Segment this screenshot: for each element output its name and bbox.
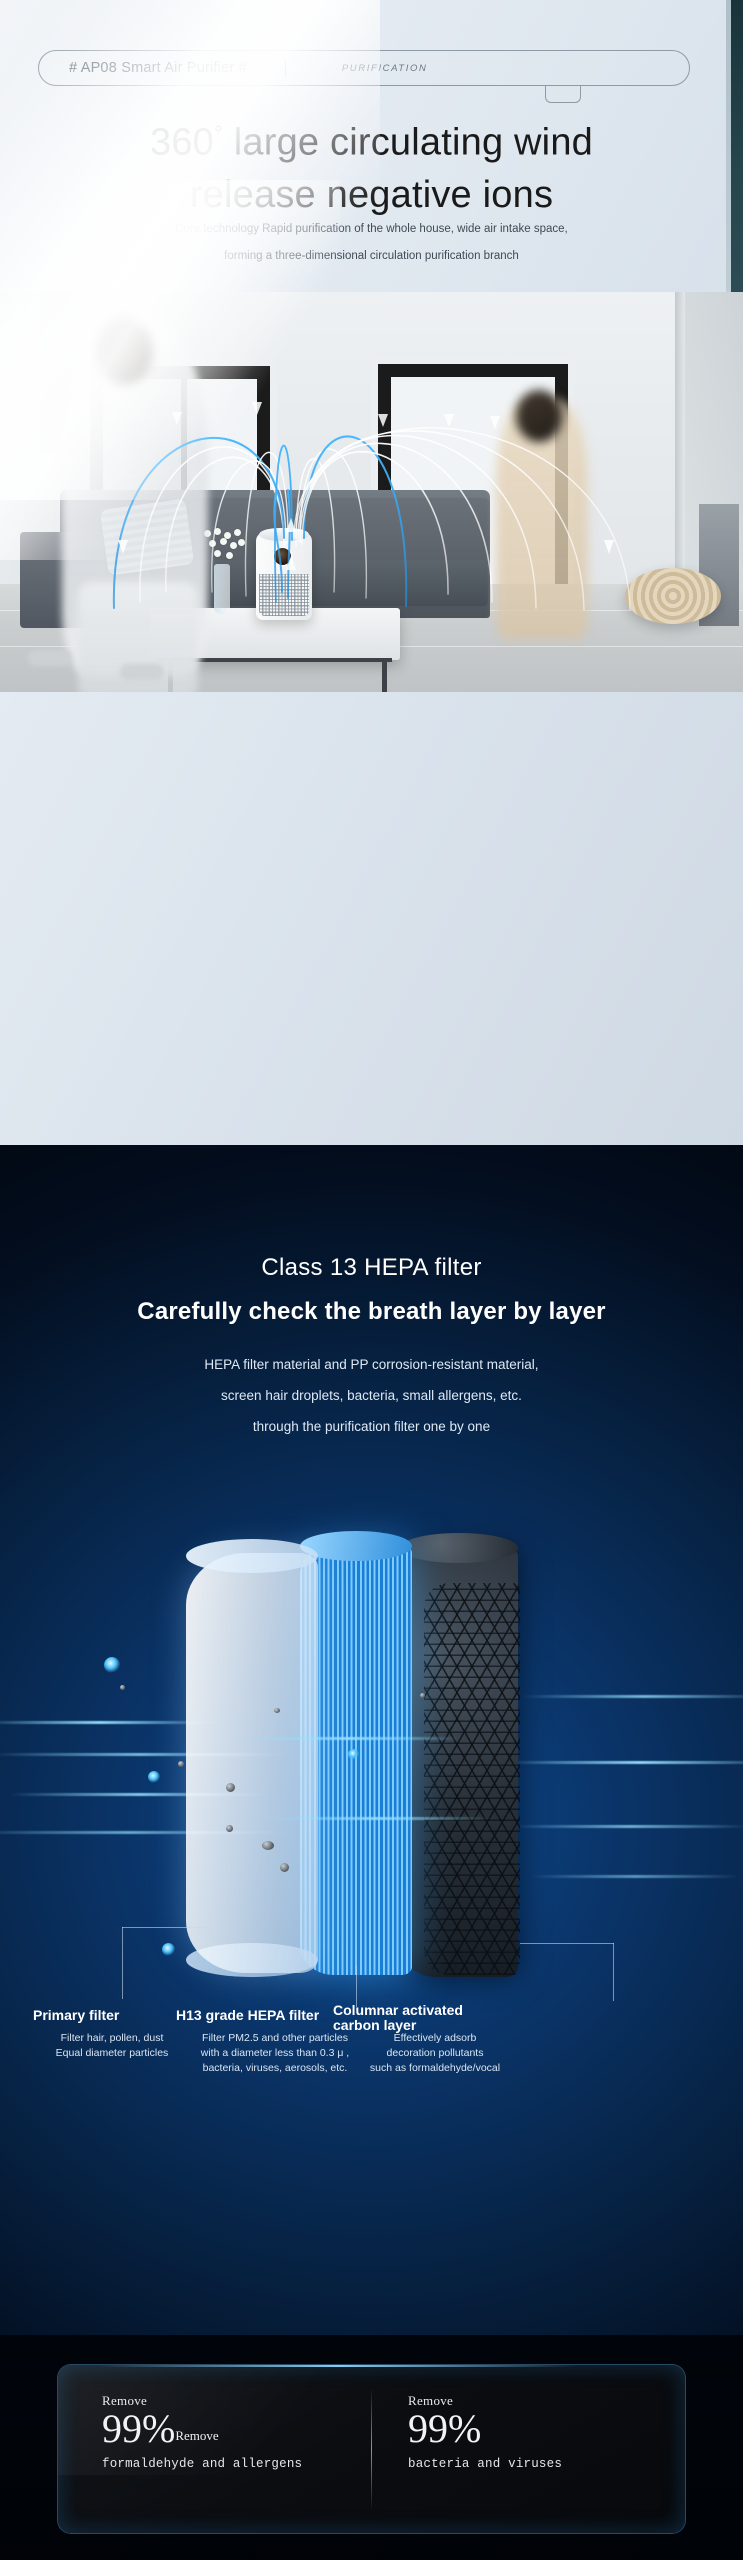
callout-leader: [122, 1927, 123, 1999]
carbon-honeycomb-texture: [424, 1583, 520, 1975]
dust-particle: [420, 1693, 425, 1698]
ribbon-title: # AP08 Smart Air Purifier #: [69, 60, 247, 76]
dust-particle: [226, 1783, 235, 1792]
layer-title-carbon-l1: Columnar activated: [333, 2002, 463, 2018]
headline-line1-rest: large circulating wind: [223, 122, 593, 164]
primary-filter-top: [186, 1539, 318, 1573]
hero-description: Core technology Rapid purification of th…: [0, 216, 743, 270]
airflow-diagram: [0, 292, 743, 692]
filter-heading-secondary: Carefully check the breath layer by laye…: [0, 1298, 743, 1326]
degree-symbol: °: [214, 121, 223, 146]
callout-leader: [356, 1965, 357, 2007]
hero-description-line1: Core technology Rapid purification of th…: [175, 223, 568, 235]
callout-leader: [520, 1943, 614, 1944]
layer-title-carbon: Columnar activated carbon layer: [333, 2003, 463, 2033]
stat-value: 99%: [408, 2407, 481, 2451]
primary-filter-layer: [186, 1553, 318, 1973]
page-title: 360° large circulating wind release nega…: [0, 108, 743, 221]
layer-title-hepa: H13 grade HEPA filter: [176, 2007, 319, 2023]
dust-particle: [280, 1863, 289, 1872]
layer-body-primary-l2: Equal diameter particles: [56, 2047, 169, 2059]
filter-layers-illustration: [0, 1525, 743, 2025]
stat-formaldehyde: Remove 99% Remove formaldehyde and aller…: [102, 2393, 302, 2471]
carbon-filter-top: [400, 1533, 518, 1563]
stat-footer: bacteria and viruses: [408, 2457, 562, 2471]
hero-scene-photo: [0, 292, 743, 692]
stat-bacteria: Remove 99% bacteria and viruses: [408, 2393, 562, 2471]
layer-body-carbon-l3: such as formaldehyde/vocal: [370, 2062, 500, 2074]
negative-ion-particle: [148, 1771, 160, 1783]
stat-footer: formaldehyde and allergens: [102, 2457, 302, 2471]
product-detail-page: # AP08 Smart Air Purifier # PURIFICATION…: [0, 0, 743, 2560]
callout-leader: [613, 1943, 614, 2001]
ribbon-tail-notch: [545, 85, 581, 103]
dust-particle: [262, 1841, 274, 1850]
filter-description-line3: through the purification filter one by o…: [253, 1419, 490, 1434]
dust-particle: [274, 1708, 280, 1713]
layer-body-carbon: Effectively adsorb decoration pollutants…: [326, 2031, 544, 2076]
dust-particle: [226, 1825, 233, 1832]
negative-ion-particle: [104, 1657, 120, 1673]
ribbon-subtitle: PURIFICATION: [342, 63, 428, 74]
filter-description: HEPA filter material and PP corrosion-re…: [0, 1349, 743, 1442]
product-ribbon: # AP08 Smart Air Purifier # PURIFICATION: [38, 50, 690, 86]
dust-particle: [120, 1685, 125, 1690]
panel-divider: [371, 2387, 372, 2511]
headline-number: 360: [150, 122, 214, 164]
layer-body-primary-l1: Filter hair, pollen, dust: [61, 2032, 164, 2044]
removal-stats-panel: Remove 99% Remove formaldehyde and aller…: [58, 2365, 685, 2533]
ribbon-divider: [285, 59, 286, 77]
negative-ion-particle: [348, 1749, 359, 1760]
negative-ion-particle: [162, 1943, 175, 1956]
filter-section: Class 13 HEPA filter Carefully check the…: [0, 1145, 743, 2560]
filter-heading-primary: Class 13 HEPA filter: [0, 1254, 743, 1282]
hero-section: # AP08 Smart Air Purifier # PURIFICATION…: [0, 0, 743, 1145]
dust-particle: [178, 1761, 184, 1767]
filter-description-line2: screen hair droplets, bacteria, small al…: [221, 1388, 522, 1403]
callout-leader: [122, 1927, 208, 1928]
hero-description-line2: forming a three-dimensional circulation …: [224, 250, 519, 262]
layer-body-carbon-l2: decoration pollutants: [387, 2047, 484, 2059]
layer-title-primary: Primary filter: [33, 2007, 119, 2023]
stat-inline-note: Remove: [175, 2428, 218, 2451]
stat-value: 99%: [102, 2407, 175, 2451]
headline-line2: release negative ions: [190, 174, 553, 216]
layer-body-carbon-l1: Effectively adsorb: [394, 2032, 477, 2044]
filter-description-line1: HEPA filter material and PP corrosion-re…: [204, 1357, 538, 1372]
